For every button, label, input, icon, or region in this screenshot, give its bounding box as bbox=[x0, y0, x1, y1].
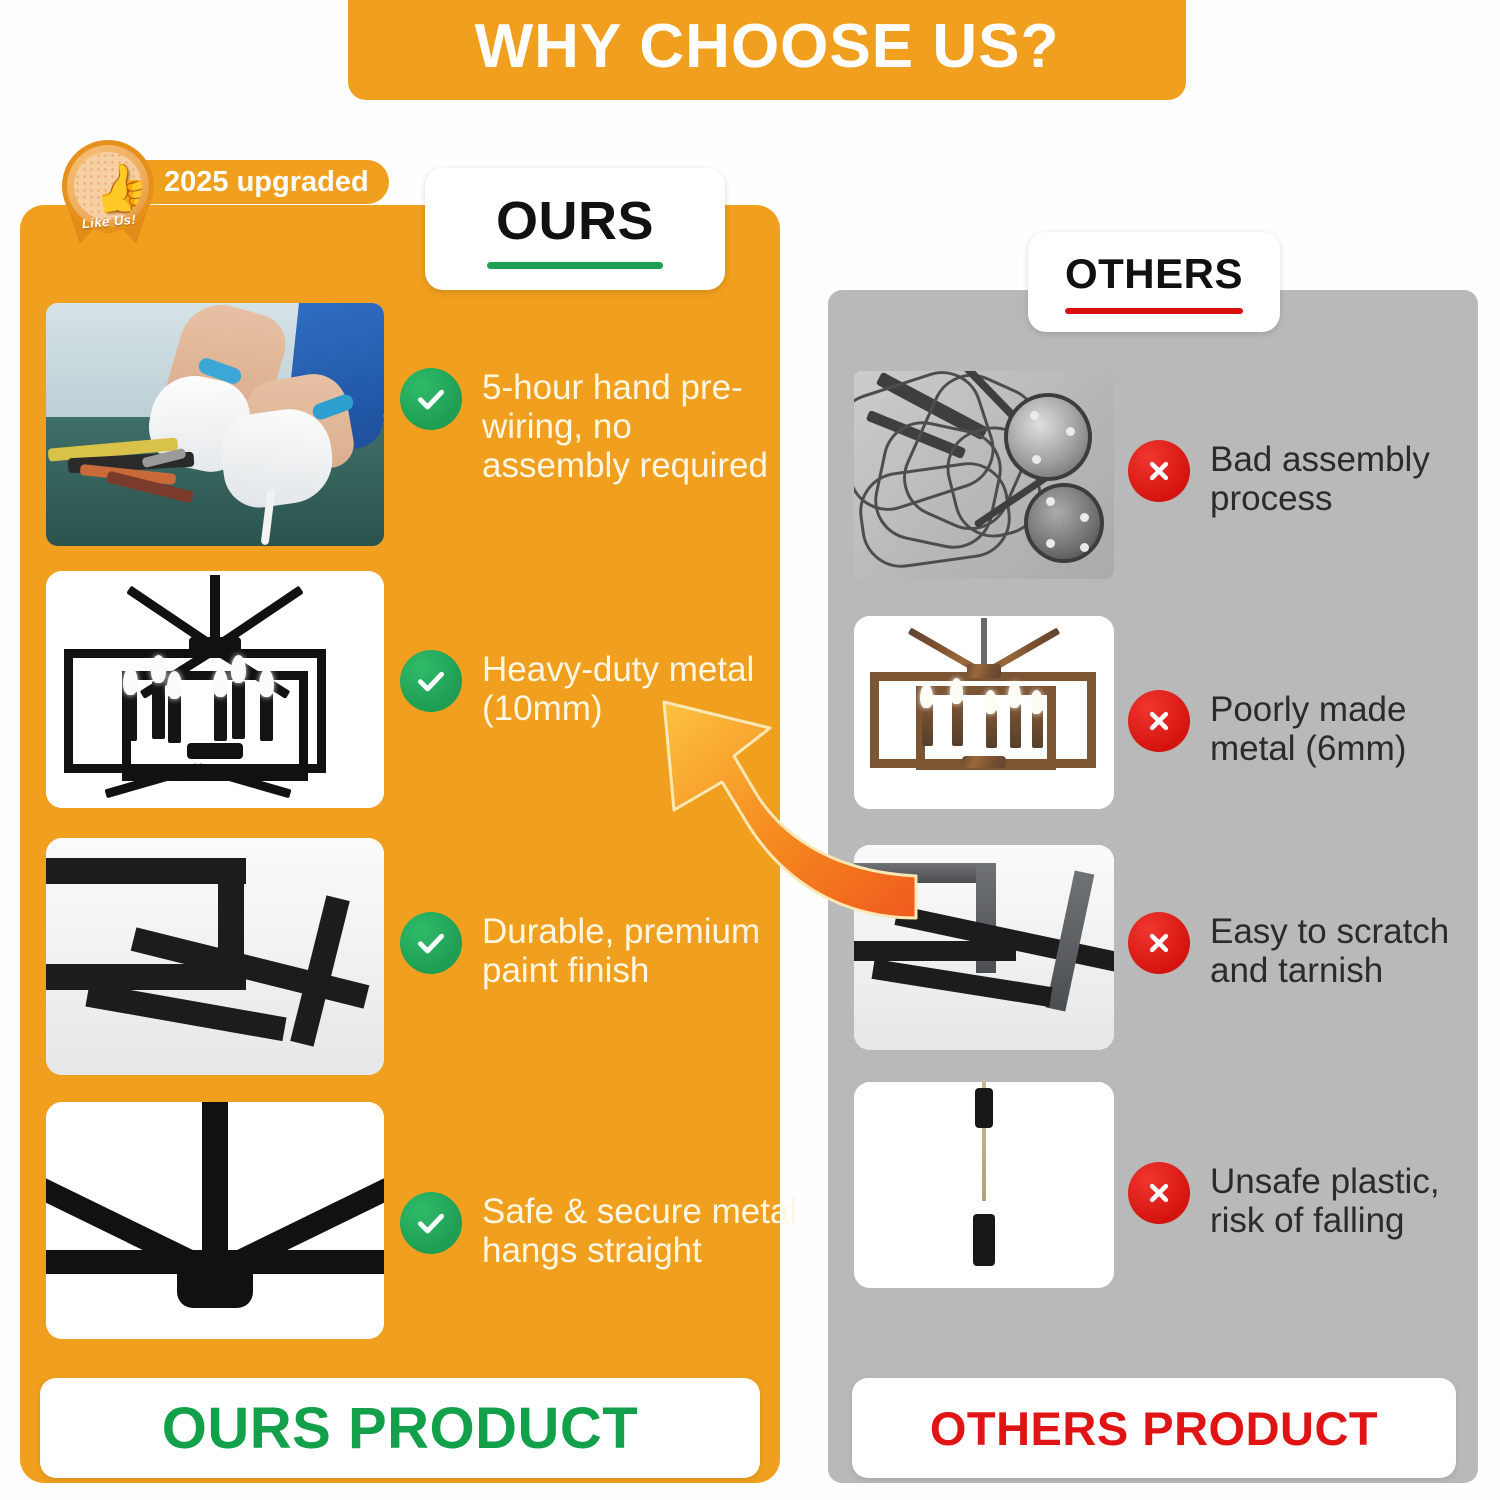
others-feature-3: Easy to scratch and tarnish bbox=[1128, 912, 1498, 990]
black-chandelier-photo bbox=[46, 571, 384, 808]
tab-others-label: OTHERS bbox=[1065, 250, 1243, 298]
black-metal-bars-photo bbox=[46, 838, 384, 1075]
ours-product-label: OURS PRODUCT bbox=[40, 1378, 760, 1478]
tab-others[interactable]: OTHERS bbox=[1028, 232, 1280, 332]
infographic-page: WHY CHOOSE US? 2025 upgraded 👍 Like Us! … bbox=[0, 0, 1500, 1500]
others-product-label: OTHERS PRODUCT bbox=[852, 1378, 1456, 1478]
check-icon bbox=[400, 912, 462, 974]
others-image-card-4 bbox=[854, 1082, 1114, 1288]
ours-feature-2-label: Heavy-duty metal (10mm) bbox=[482, 650, 780, 728]
tab-ours-label: OURS bbox=[496, 190, 654, 252]
rusty-chandelier-photo bbox=[854, 616, 1114, 809]
ours-feature-3: Durable, premium paint finish bbox=[400, 912, 780, 990]
others-feature-1-label: Bad assembly process bbox=[1210, 440, 1488, 518]
scratched-metal-bars-photo bbox=[854, 845, 1114, 1050]
check-icon bbox=[400, 1192, 462, 1254]
ours-feature-1: 5-hour hand pre-wiring, no assembly requ… bbox=[400, 368, 780, 486]
medal-inner: 👍 bbox=[74, 152, 142, 220]
others-feature-4: Unsafe plastic, risk of falling bbox=[1128, 1162, 1488, 1240]
others-feature-2-label: Poorly made metal (6mm) bbox=[1210, 690, 1498, 768]
ours-image-card-3 bbox=[46, 838, 384, 1075]
chandelier-hub-photo bbox=[46, 1102, 384, 1339]
check-icon bbox=[400, 368, 462, 430]
ours-feature-4: Safe & secure metal hangs straight bbox=[400, 1192, 800, 1270]
ours-feature-1-label: 5-hour hand pre-wiring, no assembly requ… bbox=[482, 368, 780, 486]
hanging-rod-photo bbox=[854, 1082, 1114, 1288]
others-feature-3-label: Easy to scratch and tarnish bbox=[1210, 912, 1498, 990]
ours-feature-3-label: Durable, premium paint finish bbox=[482, 912, 780, 990]
others-image-card-1 bbox=[854, 371, 1114, 579]
ours-image-card-2 bbox=[46, 571, 384, 808]
ours-image-card-1 bbox=[46, 303, 384, 546]
like-us-medal: 👍 Like Us! bbox=[58, 138, 158, 248]
cross-icon bbox=[1128, 440, 1190, 502]
tangled-parts-photo bbox=[854, 371, 1114, 579]
tab-ours-underline bbox=[487, 262, 663, 269]
ours-feature-4-label: Safe & secure metal hangs straight bbox=[482, 1192, 800, 1270]
tab-others-underline bbox=[1065, 308, 1243, 314]
others-feature-2: Poorly made metal (6mm) bbox=[1128, 690, 1498, 768]
cross-icon bbox=[1128, 912, 1190, 974]
cross-icon bbox=[1128, 1162, 1190, 1224]
tab-ours[interactable]: OURS bbox=[425, 168, 725, 290]
upgrade-badge-pill: 2025 upgraded bbox=[120, 160, 389, 204]
others-image-card-3 bbox=[854, 845, 1114, 1050]
others-feature-4-label: Unsafe plastic, risk of falling bbox=[1210, 1162, 1488, 1240]
ours-feature-2: Heavy-duty metal (10mm) bbox=[400, 650, 780, 728]
upgrade-badge-label: 2025 upgraded bbox=[164, 166, 369, 199]
upgrade-badge: 2025 upgraded 👍 Like Us! bbox=[28, 138, 408, 258]
others-feature-1: Bad assembly process bbox=[1128, 440, 1488, 518]
ours-image-card-4 bbox=[46, 1102, 384, 1339]
thumbs-up-icon: 👍 bbox=[90, 162, 142, 218]
page-title-banner: WHY CHOOSE US? bbox=[348, 0, 1186, 100]
hands-wiring-photo bbox=[46, 303, 384, 546]
check-icon bbox=[400, 650, 462, 712]
cross-icon bbox=[1128, 690, 1190, 752]
others-image-card-2 bbox=[854, 616, 1114, 809]
page-title: WHY CHOOSE US? bbox=[475, 0, 1060, 82]
